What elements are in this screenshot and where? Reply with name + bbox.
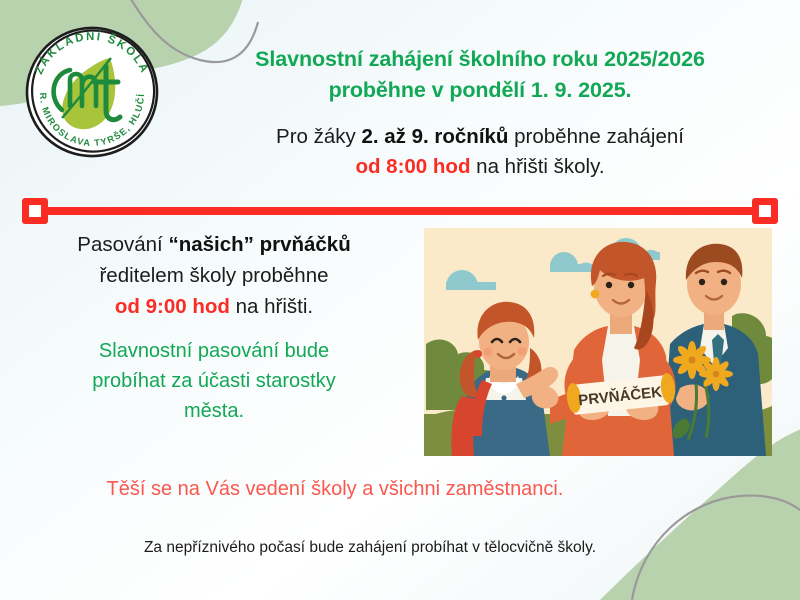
school-logo: ZÁKLADNÍ ŠKOLA DR. MIROSLAVA TYRŠE, HLUČ…	[18, 18, 166, 166]
title-line-2: proběhne v pondělí 1. 9. 2025.	[329, 78, 632, 102]
title-line-1: Slavnostní zahájení školního roku 2025/2…	[255, 47, 705, 71]
father-eye-left	[699, 279, 705, 285]
green-line-1: Slavnostní pasování bude	[99, 340, 329, 362]
passing-line3-tail: na hřišti.	[230, 295, 313, 318]
mother-eye-left	[606, 282, 612, 288]
girl-cheek-right	[518, 347, 527, 356]
subtitle-grades: 2. až 9. ročníků	[361, 125, 508, 148]
girl-button	[501, 395, 506, 400]
decor-blob-bottom-right-2	[650, 460, 800, 600]
divider-cap-right	[752, 198, 778, 224]
poster-canvas: ZÁKLADNÍ ŠKOLA DR. MIROSLAVA TYRŠE, HLUČ…	[0, 0, 800, 600]
header-subtitle: Pro žáky 2. až 9. ročníků proběhne zaháj…	[175, 122, 785, 181]
mayor-attendance-paragraph: Slavnostní pasování bude probíhat za úča…	[14, 336, 414, 426]
green-line-3: města.	[184, 400, 244, 422]
left-text-column: Pasování “našich” prvňáčků ředitelem ško…	[14, 230, 414, 426]
girl-cheek-left	[484, 348, 493, 357]
red-divider-bar	[22, 198, 778, 224]
subtitle-post: proběhne zahájení	[508, 125, 684, 148]
family-first-grader-illustration: PRVŇÁČEK	[424, 228, 772, 456]
mother-eye-right	[628, 282, 634, 288]
divider-line	[32, 207, 768, 215]
subtitle-pre: Pro žáky	[276, 125, 361, 148]
footer-line-1: Těší se na Vás vedení školy a všichni za…	[107, 478, 564, 500]
passing-ceremony-paragraph: Pasování “našich” prvňáčků ředitelem ško…	[14, 230, 414, 322]
footer-line-2: Za nepříznivého počasí bude zahájení pro…	[144, 539, 596, 556]
footer-greeting: Těší se na Vás vedení školy a všichni za…	[0, 476, 670, 502]
girl-hairtie	[474, 350, 482, 358]
passing-line1-pre: Pasování	[77, 233, 168, 256]
passing-time: od 9:00 hod	[115, 295, 230, 318]
page-title: Slavnostní zahájení školního roku 2025/2…	[175, 44, 785, 105]
green-line-2: probíhat za účasti starostky	[92, 370, 335, 392]
header-block: Slavnostní zahájení školního roku 2025/2…	[175, 44, 785, 181]
passing-line2: ředitelem školy proběhne	[99, 264, 328, 287]
subtitle-tail: na hřišti školy.	[470, 155, 604, 178]
passing-line1-bold: “našich” prvňáčků	[168, 233, 350, 256]
mother-earring	[591, 290, 600, 299]
subtitle-time: od 8:00 hod	[355, 155, 470, 178]
father-eye-right	[721, 279, 727, 285]
flower-head-2	[699, 357, 733, 391]
footer-note: Za nepříznivého počasí bude zahájení pro…	[0, 538, 740, 558]
divider-cap-left	[22, 198, 48, 224]
